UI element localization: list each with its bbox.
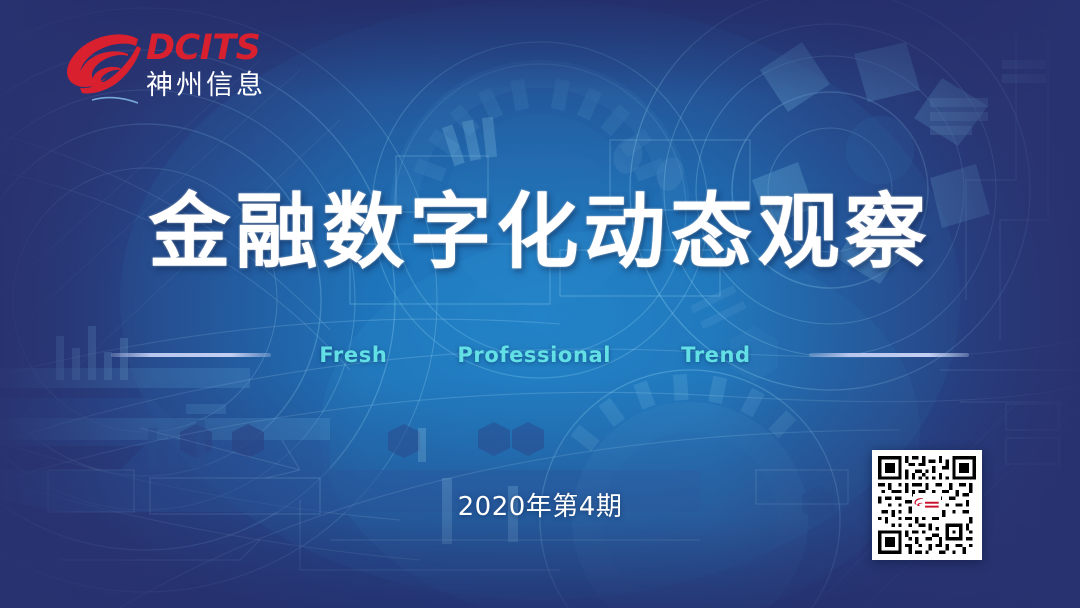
tagline-rule-left xyxy=(111,353,271,357)
dcits-logo-chinese: 神州信息 xyxy=(146,69,296,103)
dcits-swirl-icon xyxy=(62,30,144,110)
dcits-logo-text: DCITS 神州信息 xyxy=(146,28,296,103)
poster-canvas: DCITS 神州信息 金融数字化动态观察 Fresh Professional … xyxy=(0,0,1080,608)
dcits-logo-english: DCITS xyxy=(146,28,296,68)
tagline-rule-right xyxy=(809,353,969,357)
tagline-word-professional: Professional xyxy=(457,343,611,367)
tagline-row: Fresh Professional Trend xyxy=(0,341,1080,369)
tagline-word-trend: Trend xyxy=(681,343,751,367)
page-title: 金融数字化动态观察 xyxy=(0,184,1080,282)
tagline-word-fresh: Fresh xyxy=(319,343,387,367)
qr-code[interactable] xyxy=(872,450,982,560)
dcits-logo[interactable]: DCITS 神州信息 xyxy=(62,28,292,116)
qr-center-logo xyxy=(913,494,941,516)
